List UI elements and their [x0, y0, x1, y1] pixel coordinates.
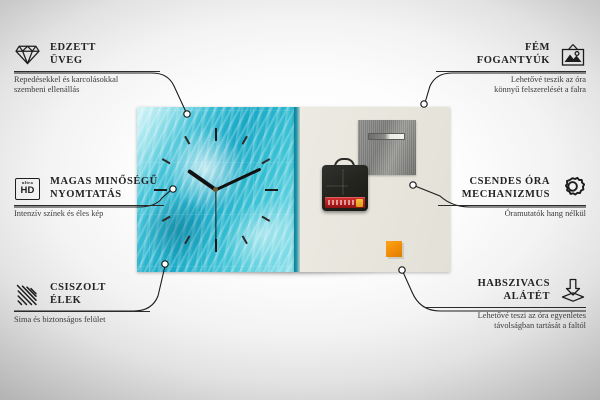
feature-heading-row: HABSZIVACS ALÁTÉT: [426, 278, 586, 303]
feature-heading-row: ultra HD MAGAS MINŐSÉGŰ NYOMTATÁS: [14, 176, 164, 201]
feature-heading-row: FÉM FOGANTYÚK: [436, 42, 586, 67]
feature-title: EDZETT ÜVEG: [50, 42, 96, 67]
feature-heading-row: CSENDES ÓRA MECHANIZMUS: [438, 176, 586, 201]
infographic-stage: EDZETT ÜVEG Repedésekkel és karcolásokka…: [0, 0, 600, 400]
feature-polished-edges: CSISZOLT ÉLEK Sima és biztonságos felüle…: [14, 282, 150, 325]
tick-12: [215, 128, 217, 190]
feature-subtitle: Intenzív színek és éles kép: [14, 209, 164, 220]
second-hand: [215, 190, 216, 245]
feature-subtitle: Repedésekkel és karcolásokkal szembeni e…: [14, 75, 160, 96]
feature-heading-row: EDZETT ÜVEG: [14, 42, 160, 67]
picture-frame-hanger-icon: [559, 42, 586, 67]
battery-label: [328, 200, 354, 205]
feature-metal-handles: FÉM FOGANTYÚK Lehetővé teszik az óra kön…: [436, 42, 586, 96]
product-composite: [137, 107, 450, 272]
feature-divider: [14, 311, 150, 312]
feature-divider: [426, 307, 586, 308]
feature-divider: [14, 71, 160, 72]
hour-hand: [187, 168, 217, 191]
clock-mechanism: [322, 165, 368, 211]
feature-tempered-glass: EDZETT ÜVEG Repedésekkel és karcolásokka…: [14, 42, 160, 96]
feature-title: HABSZIVACS ALÁTÉT: [478, 278, 550, 303]
feature-subtitle: Sima és biztonságos felület: [14, 315, 150, 326]
gear-icon: [559, 176, 586, 201]
feature-divider: [436, 71, 586, 72]
ultra-hd-badge-icon: ultra HD: [14, 176, 41, 201]
mechanism-seam-vertical: [342, 169, 344, 195]
feature-title: MAGAS MINŐSÉGŰ NYOMTATÁS: [50, 176, 158, 201]
battery: [325, 197, 365, 208]
feature-foam-spacer: HABSZIVACS ALÁTÉT Lehetővé teszi az óra …: [426, 278, 586, 332]
feature-subtitle: Lehetővé teszik az óra könnyű felszerelé…: [436, 75, 586, 96]
feature-divider: [438, 205, 586, 206]
polished-edge-icon: [14, 282, 41, 307]
feature-heading-row: CSISZOLT ÉLEK: [14, 282, 150, 307]
hand-center-cap: [213, 187, 218, 192]
feature-subtitle: Óramutatók hang nélkül: [438, 209, 586, 220]
feature-subtitle: Lehetővé teszi az óra egyenletes távolsá…: [426, 311, 586, 332]
feature-silent-mechanism: CSENDES ÓRA MECHANIZMUS Óramutatók hang …: [438, 176, 586, 219]
feature-hq-printing: ultra HD MAGAS MINŐSÉGŰ NYOMTATÁS Intenz…: [14, 176, 164, 219]
feature-divider: [14, 205, 164, 206]
feature-title: CSENDES ÓRA MECHANIZMUS: [462, 176, 550, 201]
feature-title: CSISZOLT ÉLEK: [50, 282, 106, 307]
mechanism-hang-loop: [334, 158, 355, 169]
foam-pad: [386, 241, 402, 257]
diamond-icon: [14, 42, 41, 67]
feature-title: FÉM FOGANTYÚK: [477, 42, 550, 67]
clock-side-edge: [294, 107, 300, 272]
mechanism-seam-horizontal: [326, 185, 348, 187]
foam-press-arrow-icon: [559, 278, 586, 303]
clock-back-panel: [294, 107, 450, 272]
hanger-slot: [368, 133, 405, 140]
tick-3: [216, 189, 278, 191]
